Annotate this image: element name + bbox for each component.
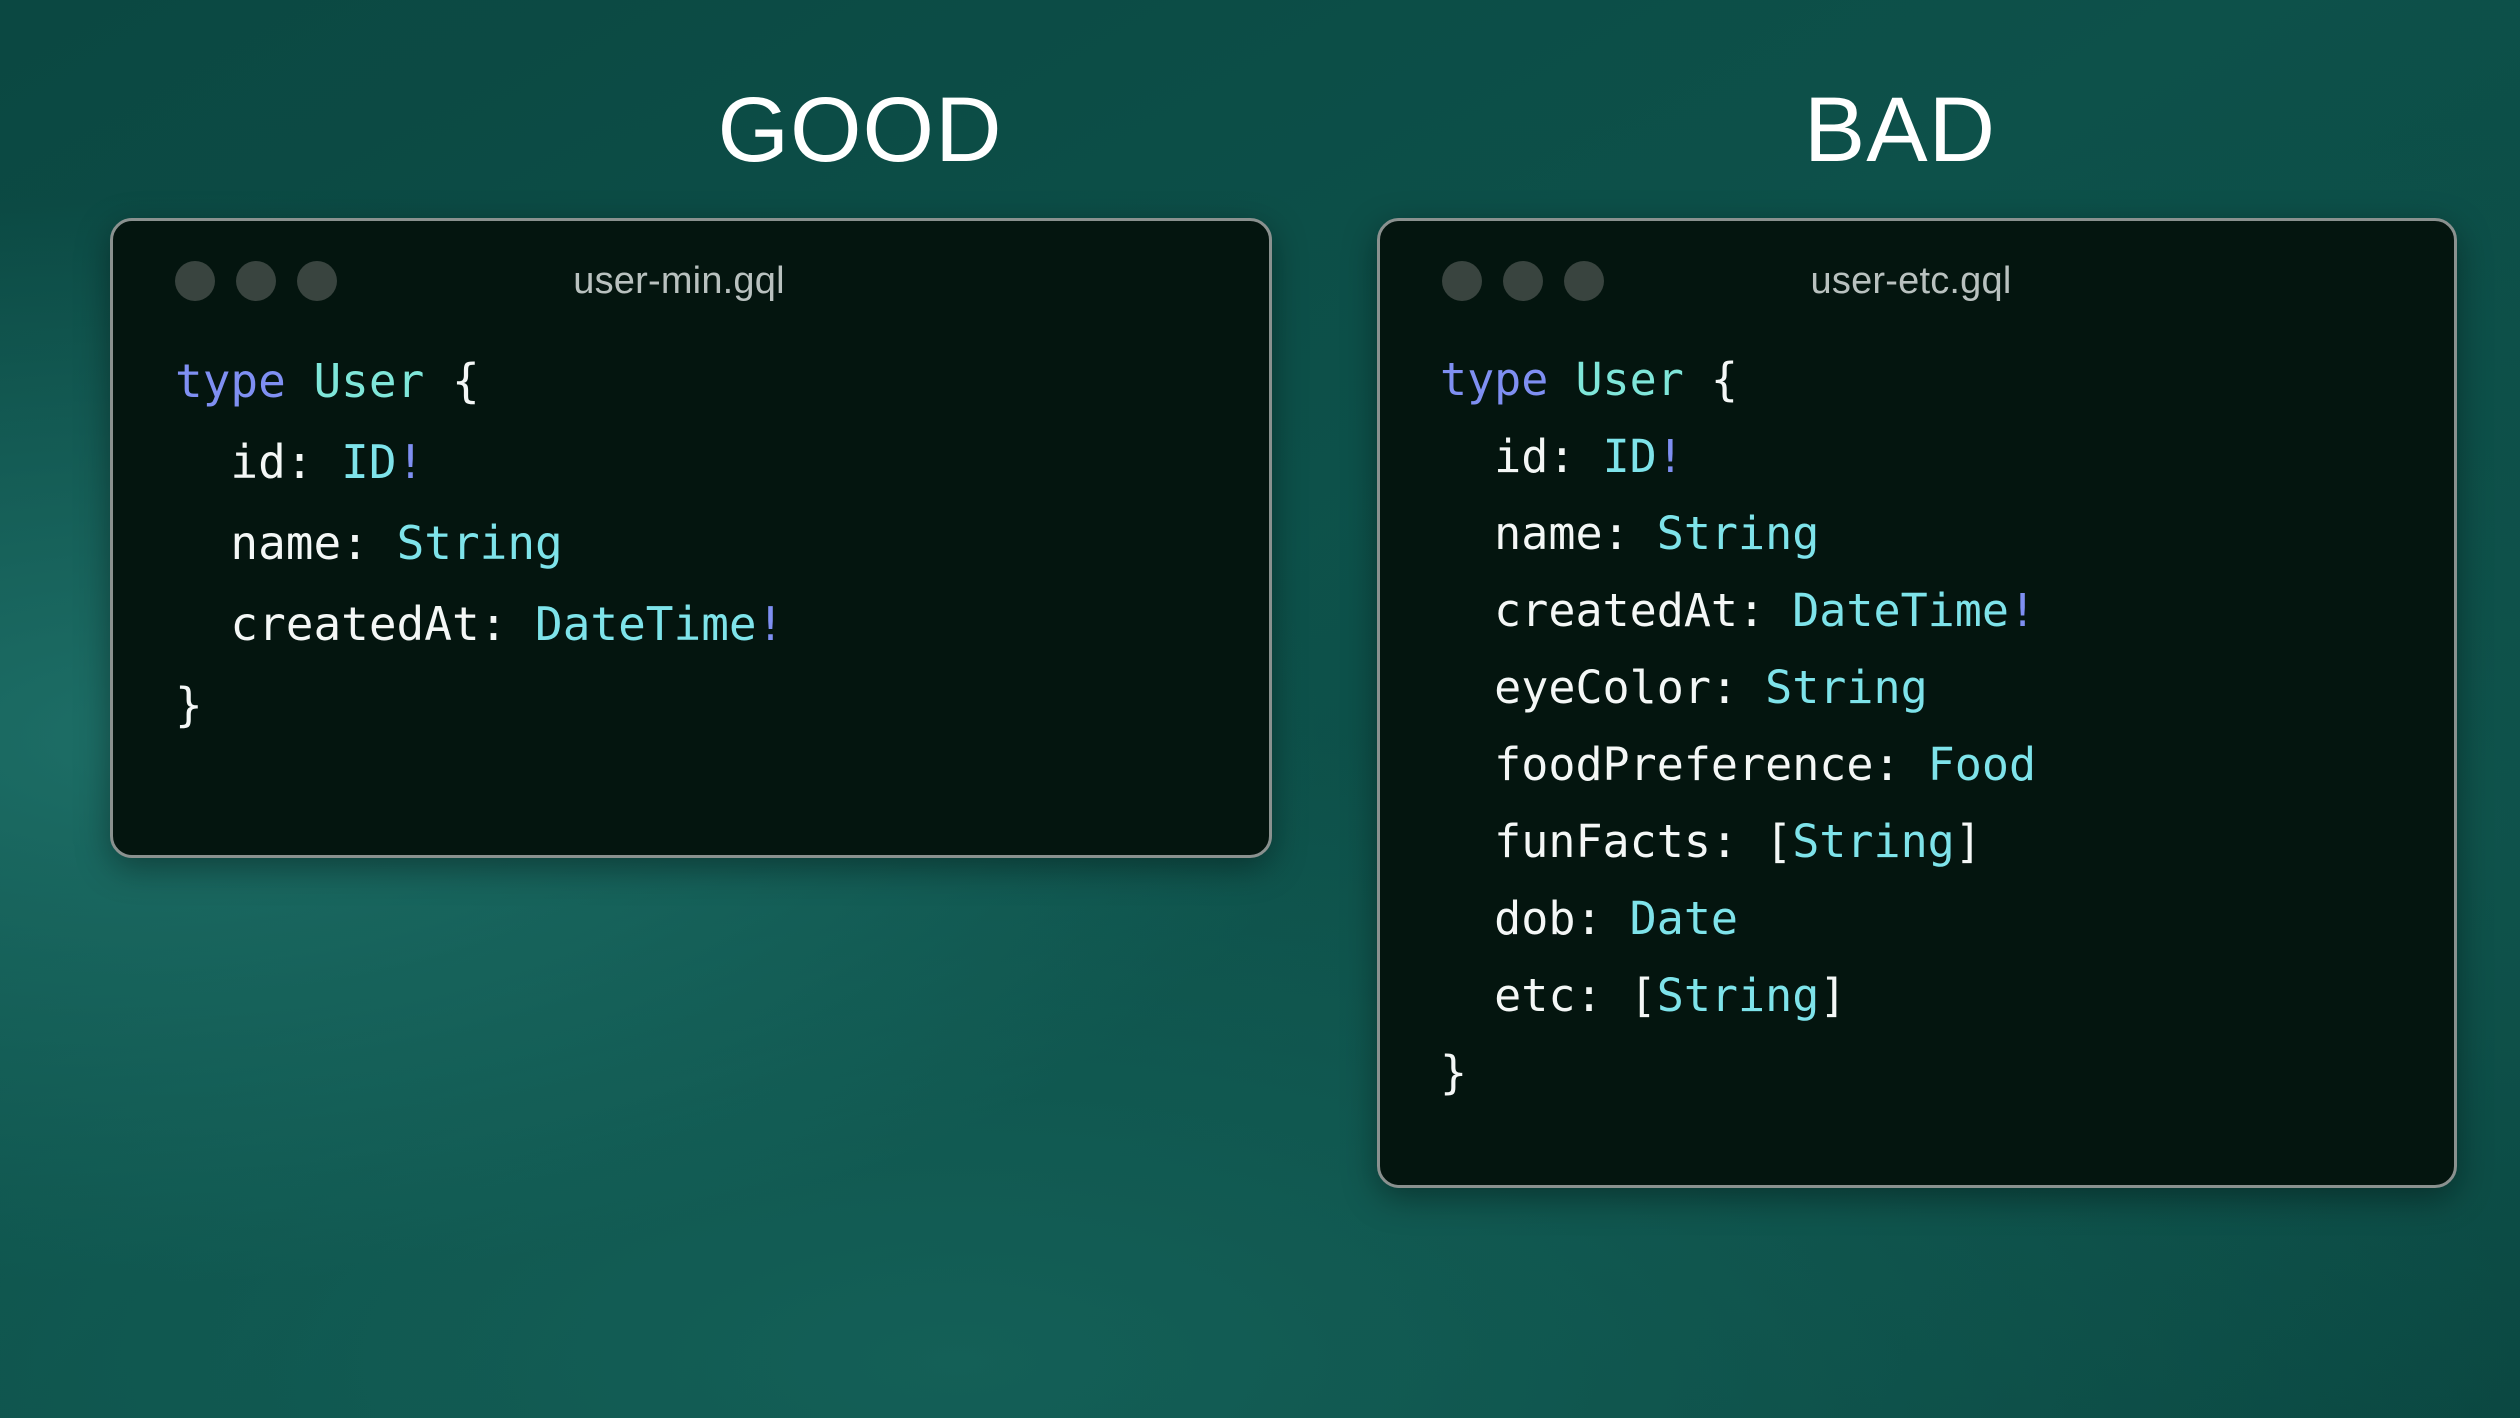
traffic-light-group xyxy=(175,261,337,301)
code-token-bang: ! xyxy=(757,597,785,651)
code-token-punct: } xyxy=(175,678,203,732)
code-token-field: eyeColor: xyxy=(1440,661,1765,714)
minimize-dot-icon[interactable] xyxy=(1503,261,1543,301)
code-token-return-type: String xyxy=(1792,815,1955,868)
code-token-field: id: xyxy=(1440,430,1603,483)
code-line: id: ID! xyxy=(175,422,1269,503)
slide-canvas: GOOD user-min.gql type User { id: ID! na… xyxy=(0,0,2520,1418)
window-title-bar: user-min.gql xyxy=(113,221,1269,341)
close-dot-icon[interactable] xyxy=(1442,261,1482,301)
code-line: etc: [String] xyxy=(1440,957,2454,1034)
code-token-bang: ! xyxy=(1657,430,1684,483)
code-line: eyeColor: String xyxy=(1440,649,2454,726)
code-line: createdAt: DateTime! xyxy=(175,584,1269,665)
code-token-return-type: String xyxy=(1657,507,1820,560)
code-token-field: name: xyxy=(1440,507,1657,560)
code-line: dob: Date xyxy=(1440,880,2454,957)
maximize-dot-icon[interactable] xyxy=(297,261,337,301)
code-token-punct: { xyxy=(424,354,479,408)
code-line: type User { xyxy=(1440,341,2454,418)
code-token-punct: ] xyxy=(1955,815,1982,868)
code-token-field: etc: [ xyxy=(1440,969,1657,1022)
code-token-return-type: String xyxy=(397,516,563,570)
code-line: funFacts: [String] xyxy=(1440,803,2454,880)
code-token-return-type: String xyxy=(1765,661,1928,714)
code-line: name: String xyxy=(175,503,1269,584)
maximize-dot-icon[interactable] xyxy=(1564,261,1604,301)
code-line: } xyxy=(1440,1034,2454,1111)
code-window-good: user-min.gql type User { id: ID! name: S… xyxy=(110,218,1272,858)
code-token-field: foodPreference: xyxy=(1440,738,1928,791)
code-line: type User { xyxy=(175,341,1269,422)
code-token-field: name: xyxy=(175,516,397,570)
code-token-return-type: Date xyxy=(1630,892,1738,945)
code-line: } xyxy=(175,665,1269,746)
window-title-bar: user-etc.gql xyxy=(1380,221,2454,341)
code-token-typename: User xyxy=(1575,353,1683,406)
code-token-field: funFacts: [ xyxy=(1440,815,1792,868)
code-line: foodPreference: Food xyxy=(1440,726,2454,803)
code-token-field: createdAt: xyxy=(175,597,535,651)
code-block-good: type User { id: ID! name: String created… xyxy=(113,341,1269,746)
code-token-return-type: String xyxy=(1657,969,1820,1022)
code-token-return-type: Food xyxy=(1928,738,2036,791)
column-heading-good: GOOD xyxy=(360,84,1360,176)
code-window-bad: user-etc.gql type User { id: ID! name: S… xyxy=(1377,218,2457,1188)
code-token-return-type: DateTime xyxy=(1792,584,2009,637)
code-token-keyword: type xyxy=(1440,353,1575,406)
column-heading-bad: BAD xyxy=(1400,84,2400,176)
code-token-return-type: ID xyxy=(341,435,396,489)
code-token-field: createdAt: xyxy=(1440,584,1792,637)
code-token-return-type: DateTime xyxy=(535,597,757,651)
minimize-dot-icon[interactable] xyxy=(236,261,276,301)
close-dot-icon[interactable] xyxy=(175,261,215,301)
code-line: createdAt: DateTime! xyxy=(1440,572,2454,649)
traffic-light-group xyxy=(1442,261,1604,301)
code-token-typename: User xyxy=(313,354,424,408)
code-token-bang: ! xyxy=(2009,584,2036,637)
code-token-punct: } xyxy=(1440,1046,1467,1099)
code-line: id: ID! xyxy=(1440,418,2454,495)
code-token-field: dob: xyxy=(1440,892,1630,945)
code-token-punct: { xyxy=(1684,353,1738,406)
code-token-keyword: type xyxy=(175,354,313,408)
code-token-punct: ] xyxy=(1819,969,1846,1022)
code-block-bad: type User { id: ID! name: String created… xyxy=(1380,341,2454,1111)
code-token-field: id: xyxy=(175,435,341,489)
code-line: name: String xyxy=(1440,495,2454,572)
code-token-bang: ! xyxy=(397,435,425,489)
code-token-return-type: ID xyxy=(1603,430,1657,483)
